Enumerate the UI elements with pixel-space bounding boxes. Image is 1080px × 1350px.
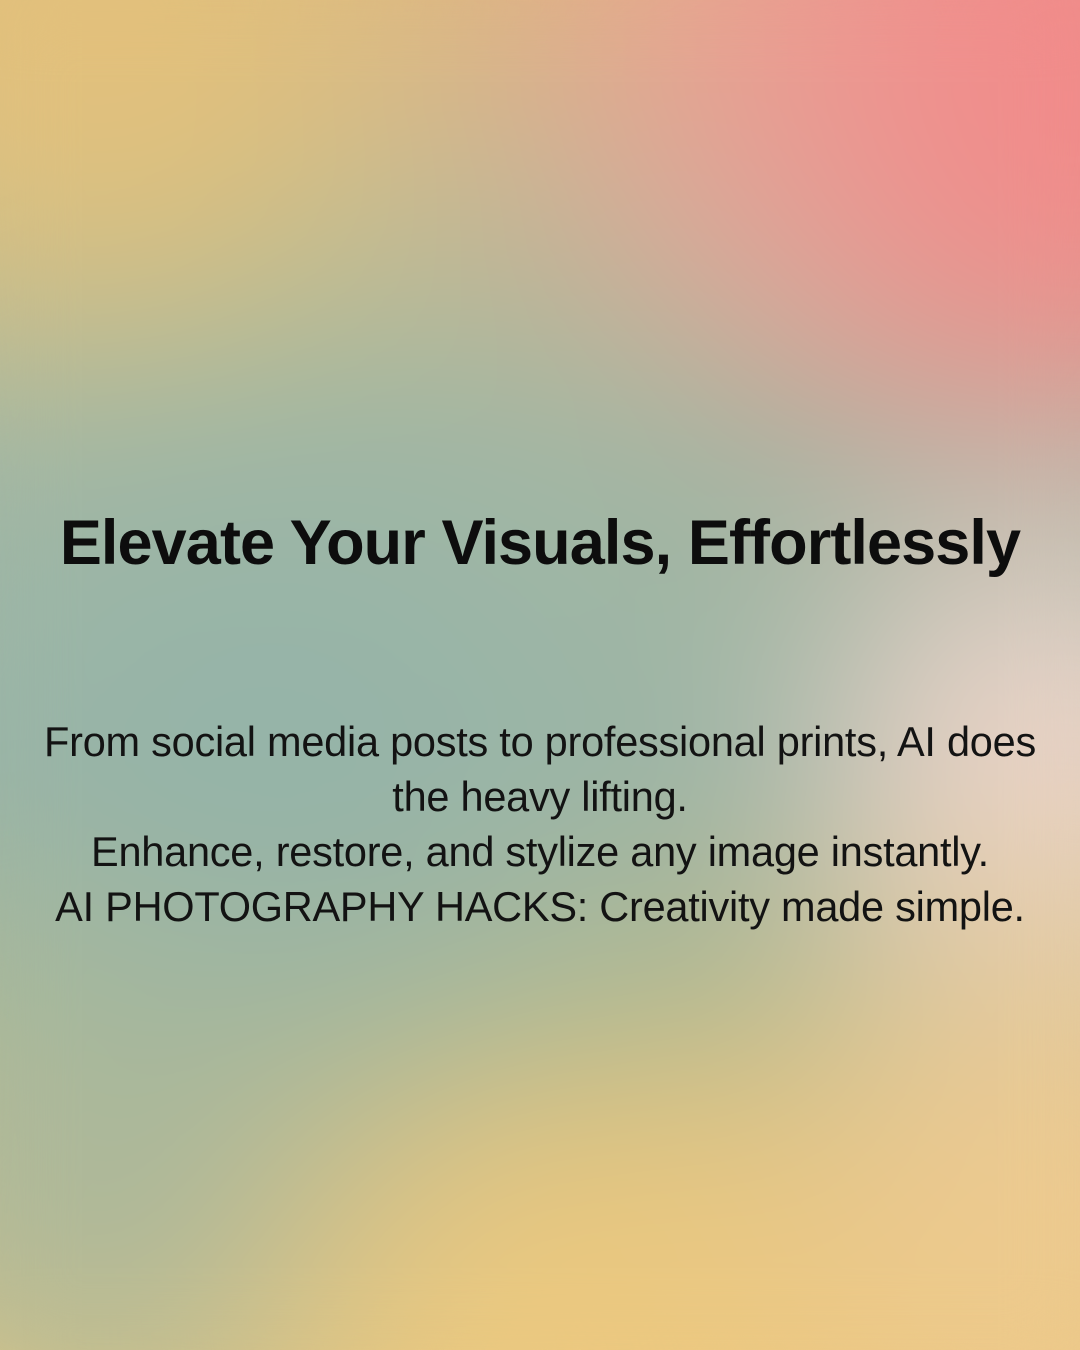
page-title: Elevate Your Visuals, Effortlessly (0, 508, 1080, 579)
body-line: From social media posts to professional … (8, 714, 1072, 769)
gradient-poster: Elevate Your Visuals, Effortlessly From … (0, 0, 1080, 1350)
body-line: the heavy lifting. (8, 769, 1072, 824)
poster-body-copy: From social media posts to professional … (8, 714, 1072, 934)
body-line: AI PHOTOGRAPHY HACKS: Creativity made si… (8, 879, 1072, 934)
poster-content: Elevate Your Visuals, Effortlessly From … (0, 0, 1080, 1350)
body-line: Enhance, restore, and stylize any image … (8, 824, 1072, 879)
